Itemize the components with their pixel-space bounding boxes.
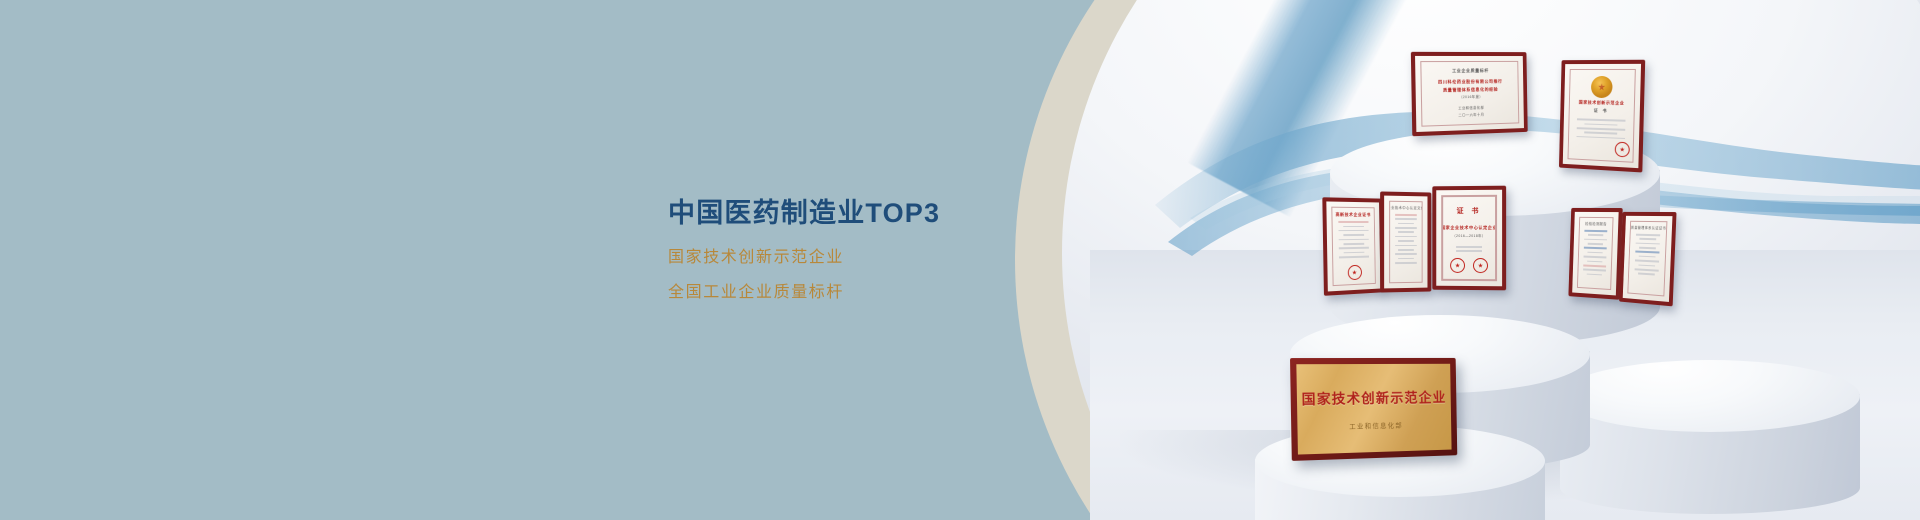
certificate-body-line-3: （2016年度） [1459,95,1483,100]
certificate-mat: 检验检测报告 [1572,212,1618,296]
certificate-subheader: 国家企业技术中心认定企业 [1441,225,1497,231]
certificate-header: 检验检测报告 [1585,222,1607,227]
certificate-header: 企业技术中心认定文件 [1389,206,1422,211]
certificate-inner: 国家技术创新示范企业 证 书 [1568,69,1636,163]
certificate-inner: 工业企业质量标杆 四川科伦药业股份有限公司推行 质量管理体系信息化的经验 （20… [1420,61,1519,127]
banner-headline: 中国医药制造业TOP3 [668,200,940,227]
certificate-header: 高新技术企业证书 [1336,212,1371,218]
certificate-inner: 检验检测报告 [1577,217,1614,290]
certificate-header: 质量管理体系认证证书 [1631,226,1666,232]
banner-copy: 中国医药制造业TOP3 国家技术创新示范企业 全国工业企业质量标杆 [668,200,940,301]
certificate-frame-iso-certification: 质量管理体系认证证书 [1619,212,1676,306]
official-seal-icon [1347,265,1361,281]
official-seal-icon [1450,258,1465,273]
gold-award-plaque: 国家技术创新示范企业 工业和信息化部 [1290,358,1457,461]
certificate-inner: 企业技术中心认定文件 [1389,201,1422,284]
official-seal-icon [1473,258,1488,273]
national-emblem-icon [1591,76,1613,98]
certificate-inner: 质量管理体系认证证书 [1627,221,1667,297]
certificate-subheader: 证 书 [1594,108,1609,115]
pedestal-right [1560,360,1860,432]
certificate-mat: 国家技术创新示范企业 证 书 [1563,64,1641,168]
certificate-note: （2016—2018年） [1452,234,1485,239]
certificate-frame-quality-benchmark: 工业企业质量标杆 四川科伦药业股份有限公司推行 质量管理体系信息化的经验 （20… [1411,52,1528,136]
plaque-face: 国家技术创新示范企业 工业和信息化部 [1296,364,1451,455]
certificate-frame-tech-center-doc: 企业技术中心认定文件 [1380,191,1431,292]
plaque-title: 国家技术创新示范企业 [1301,386,1446,408]
certificate-frame-high-tech: 高新技术企业证书 [1322,197,1384,296]
banner-subtitle-2: 全国工业企业质量标杆 [668,285,940,301]
official-seal-icon [1615,142,1630,158]
certificate-frame-enterprise-tech-center: 证 书 国家企业技术中心认定企业 （2016—2018年） [1432,186,1506,291]
certificate-frame-test-report: 检验检测报告 [1568,208,1622,300]
certificate-inner: 高新技术企业证书 [1331,207,1376,286]
plaque-issuer: 工业和信息化部 [1349,420,1403,430]
certificate-header: 工业企业质量标杆 [1452,68,1489,74]
certificate-issuer: 工业和信息化部 [1458,105,1484,111]
certificate-mat: 工业企业质量标杆 四川科伦药业股份有限公司推行 质量管理体系信息化的经验 （20… [1415,56,1524,132]
certificate-header: 国家技术创新示范企业 [1579,100,1625,107]
hero-banner: 工业企业质量标杆 四川科伦药业股份有限公司推行 质量管理体系信息化的经验 （20… [0,0,1920,520]
certificate-body-line-2: 质量管理体系信息化的经验 [1443,86,1498,93]
certificate-body-line-1: 四川科伦药业股份有限公司推行 [1438,78,1502,85]
certificate-header: 证 书 [1457,206,1482,216]
certificate-mat: 质量管理体系认证证书 [1623,216,1673,302]
certificate-mat: 企业技术中心认定文件 [1384,196,1427,289]
certificate-mat: 高新技术企业证书 [1326,201,1380,291]
awards-scene: 工业企业质量标杆 四川科伦药业股份有限公司推行 质量管理体系信息化的经验 （20… [0,0,1920,520]
certificate-date: 二〇一六年十月 [1458,112,1484,118]
banner-subtitle-1: 国家技术创新示范企业 [668,250,940,266]
certificate-inner: 证 书 国家企业技术中心认定企业 （2016—2018年） [1441,195,1497,281]
certificate-frame-national-innovation: 国家技术创新示范企业 证 书 [1559,60,1645,173]
certificate-mat: 证 书 国家企业技术中心认定企业 （2016—2018年） [1436,190,1502,287]
pedestal-top [1560,360,1860,432]
